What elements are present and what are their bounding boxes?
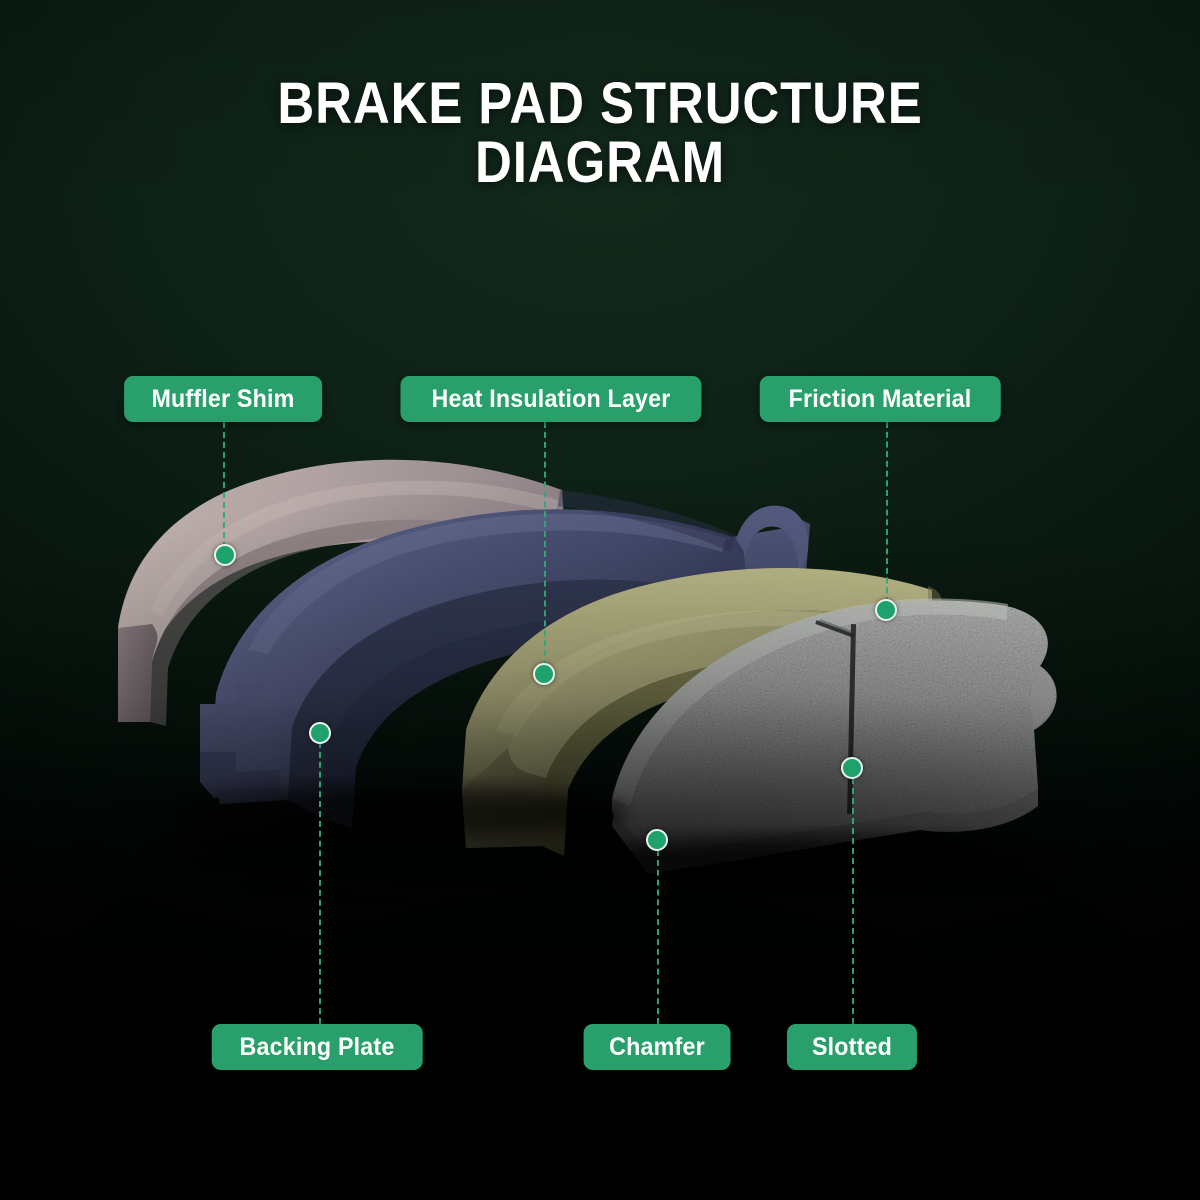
label-pill-chamfer[interactable]: Chamfer <box>584 1024 731 1070</box>
leader-line-backing-plate <box>319 742 321 1024</box>
callout-dot-backing-plate[interactable] <box>309 722 331 744</box>
leader-line-slotted <box>852 778 854 1024</box>
leader-line-muffler-shim <box>223 422 225 548</box>
page-title: BRAKE PAD STRUCTURE DIAGRAM <box>72 74 1128 192</box>
leader-line-heat-insulation-layer <box>544 422 546 666</box>
label-pill-friction-material[interactable]: Friction Material <box>760 376 1001 422</box>
callout-dot-heat-insulation-layer[interactable] <box>533 663 555 685</box>
label-text-friction-material: Friction Material <box>789 385 972 414</box>
label-pill-slotted[interactable]: Slotted <box>787 1024 917 1070</box>
label-pill-heat-insulation-layer[interactable]: Heat Insulation Layer <box>400 376 701 422</box>
callout-dot-slotted[interactable] <box>841 757 863 779</box>
label-text-muffler-shim: Muffler Shim <box>151 385 294 414</box>
label-text-chamfer: Chamfer <box>609 1033 705 1062</box>
label-text-backing-plate: Backing Plate <box>240 1033 395 1062</box>
callout-dot-chamfer[interactable] <box>646 829 668 851</box>
label-text-heat-insulation-layer: Heat Insulation Layer <box>431 385 670 414</box>
label-pill-backing-plate[interactable]: Backing Plate <box>212 1024 423 1070</box>
label-pill-muffler-shim[interactable]: Muffler Shim <box>124 376 322 422</box>
label-text-slotted: Slotted <box>812 1033 892 1062</box>
leader-line-friction-material <box>886 422 888 603</box>
callout-dot-friction-material[interactable] <box>875 599 897 621</box>
leader-line-chamfer <box>657 850 659 1024</box>
brake-pad-diagram-page: BRAKE PAD STRUCTURE DIAGRAM Muffler Shim… <box>0 0 1200 1200</box>
callout-dot-muffler-shim[interactable] <box>214 544 236 566</box>
